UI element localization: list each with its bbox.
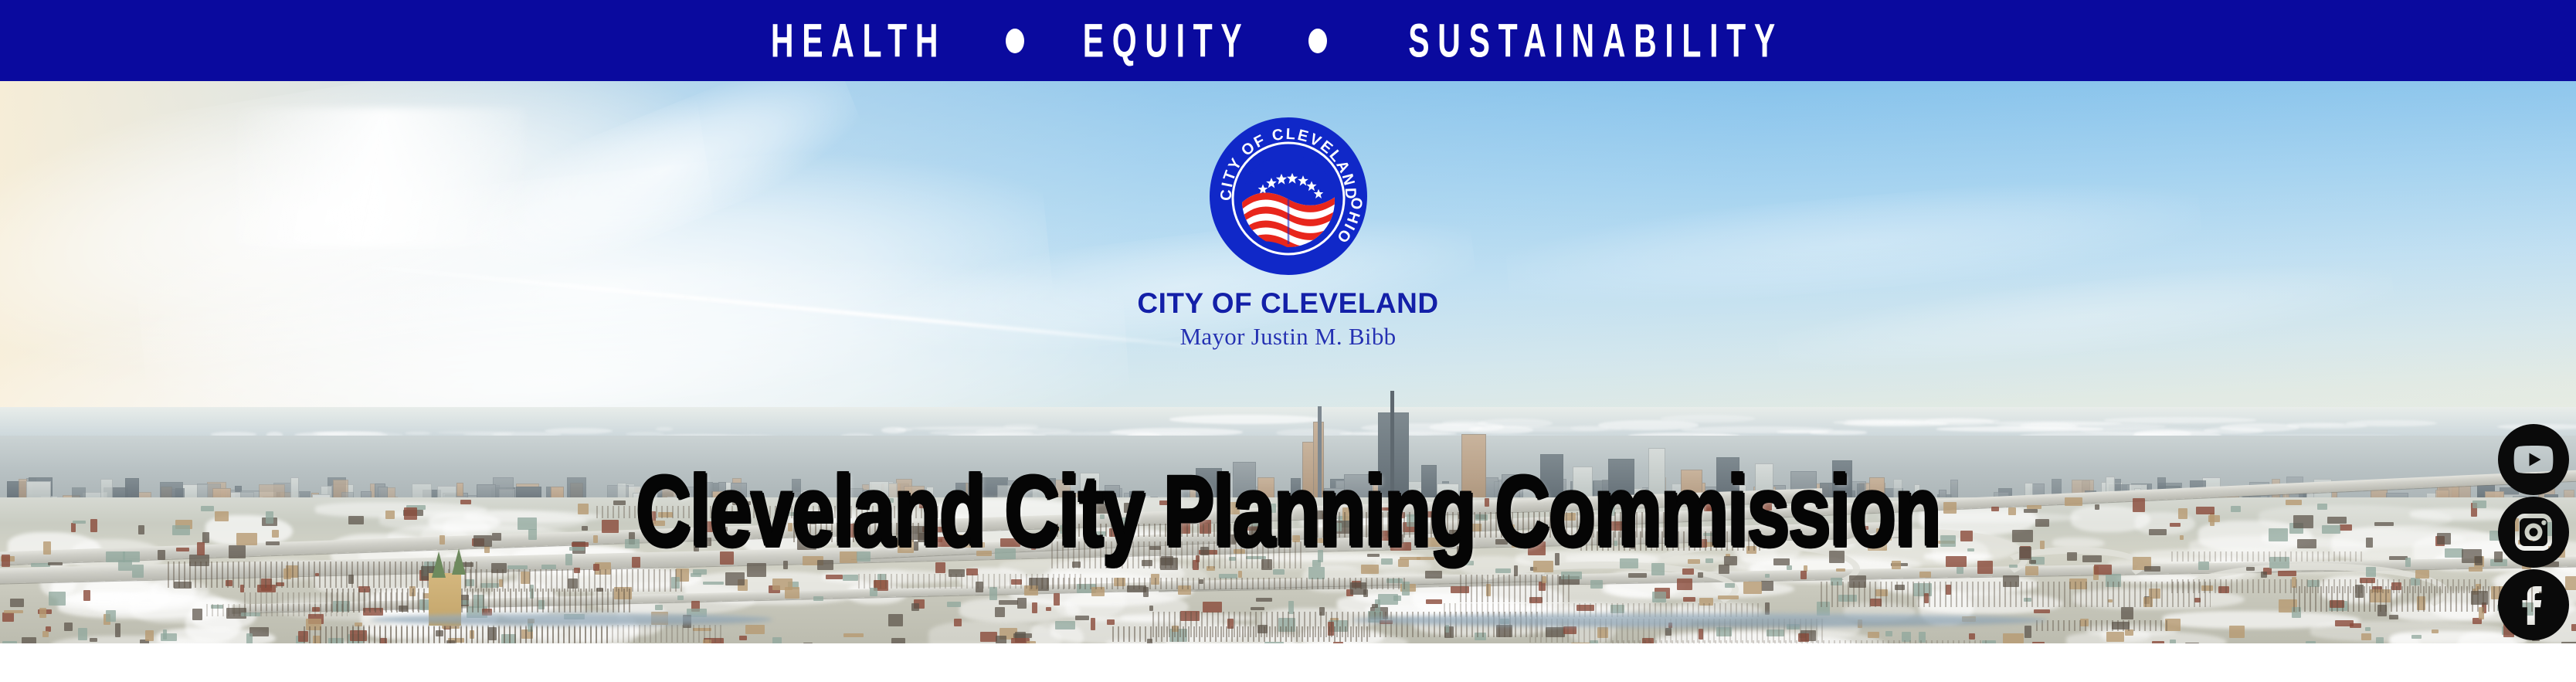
bullet-dot-icon [1006,29,1024,53]
tagline-word-health: HEALTH [771,17,946,64]
city-of-cleveland-seal-icon: CITY OF CLEVELAND OHIO [1208,116,1369,277]
org-name: CITY OF CLEVELAND [1072,289,1505,319]
city-branding-block: CITY OF CLEVELAND OHIO [1072,116,1505,349]
mayor-name: Mayor Justin M. Bibb [1072,324,1505,350]
facebook-icon[interactable] [2498,569,2569,640]
social-links-rail [2496,424,2571,640]
tagline-word-equity: EQUITY [1083,17,1251,64]
tagline-bar: HEALTH EQUITY SUSTAINABILITY [0,0,2576,81]
tagline-word-sustainability: SUSTAINABILITY [1408,17,1784,64]
instagram-icon[interactable] [2498,497,2569,568]
youtube-icon[interactable] [2498,424,2569,495]
page-title: Cleveland City Planning Commission [129,462,2448,562]
cloud [232,108,525,247]
bullet-dot-icon [1308,29,1327,53]
